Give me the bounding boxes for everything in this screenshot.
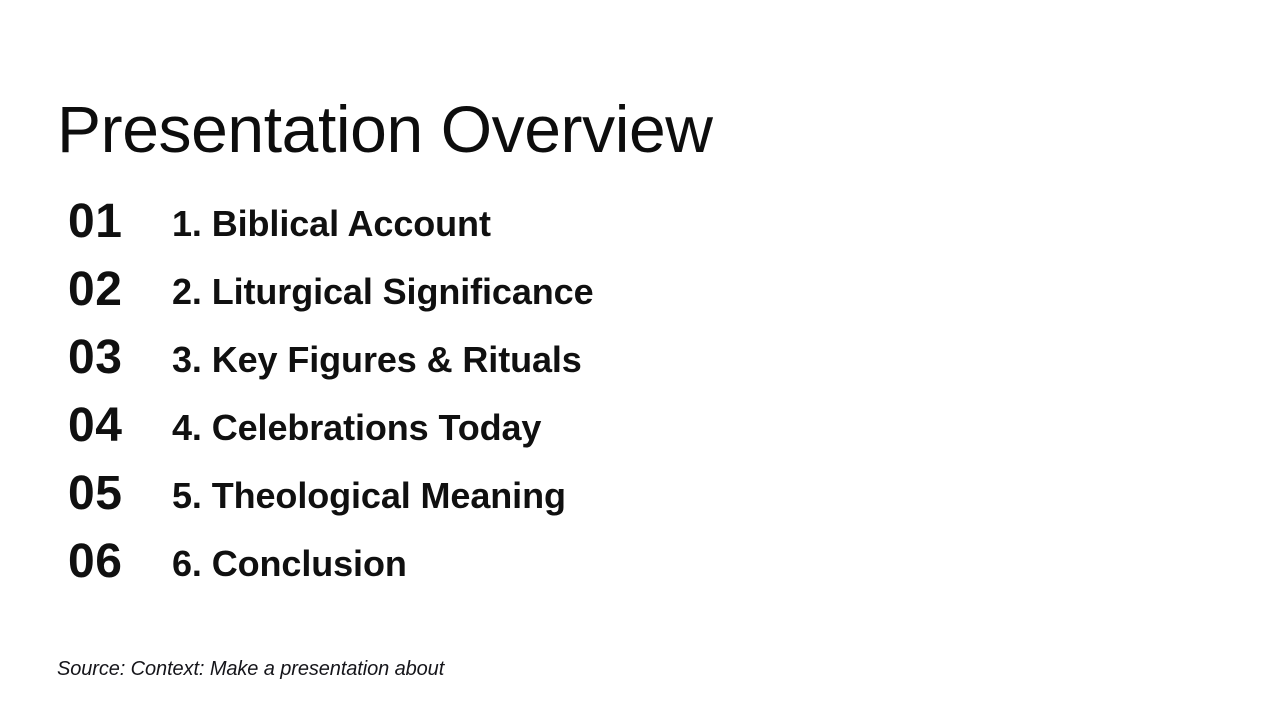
- source-note: Source: Context: Make a presentation abo…: [57, 656, 444, 682]
- agenda-item-number: 04: [68, 400, 188, 452]
- agenda-item-number: 05: [68, 468, 188, 520]
- presentation-slide: Presentation Overview 01 1. Biblical Acc…: [0, 0, 1280, 720]
- agenda-item-number: 01: [68, 196, 188, 248]
- agenda-item-label: 1. Biblical Account: [172, 204, 491, 244]
- agenda-item-label: 5. Theological Meaning: [172, 476, 566, 516]
- list-item[interactable]: 01 1. Biblical Account: [57, 196, 1157, 264]
- agenda-item-label: 2. Liturgical Significance: [172, 272, 594, 312]
- agenda-item-label: 4. Celebrations Today: [172, 408, 541, 448]
- agenda-list: 01 1. Biblical Account 02 2. Liturgical …: [57, 196, 1157, 604]
- list-item[interactable]: 05 5. Theological Meaning: [57, 468, 1157, 536]
- list-item[interactable]: 02 2. Liturgical Significance: [57, 264, 1157, 332]
- agenda-item-number: 03: [68, 332, 188, 384]
- agenda-item-number: 02: [68, 264, 188, 316]
- agenda-item-number: 06: [68, 536, 188, 588]
- agenda-item-label: 3. Key Figures & Rituals: [172, 340, 582, 380]
- list-item[interactable]: 04 4. Celebrations Today: [57, 400, 1157, 468]
- list-item[interactable]: 06 6. Conclusion: [57, 536, 1157, 604]
- agenda-item-label: 6. Conclusion: [172, 544, 407, 584]
- list-item[interactable]: 03 3. Key Figures & Rituals: [57, 332, 1157, 400]
- page-title: Presentation Overview: [57, 96, 713, 162]
